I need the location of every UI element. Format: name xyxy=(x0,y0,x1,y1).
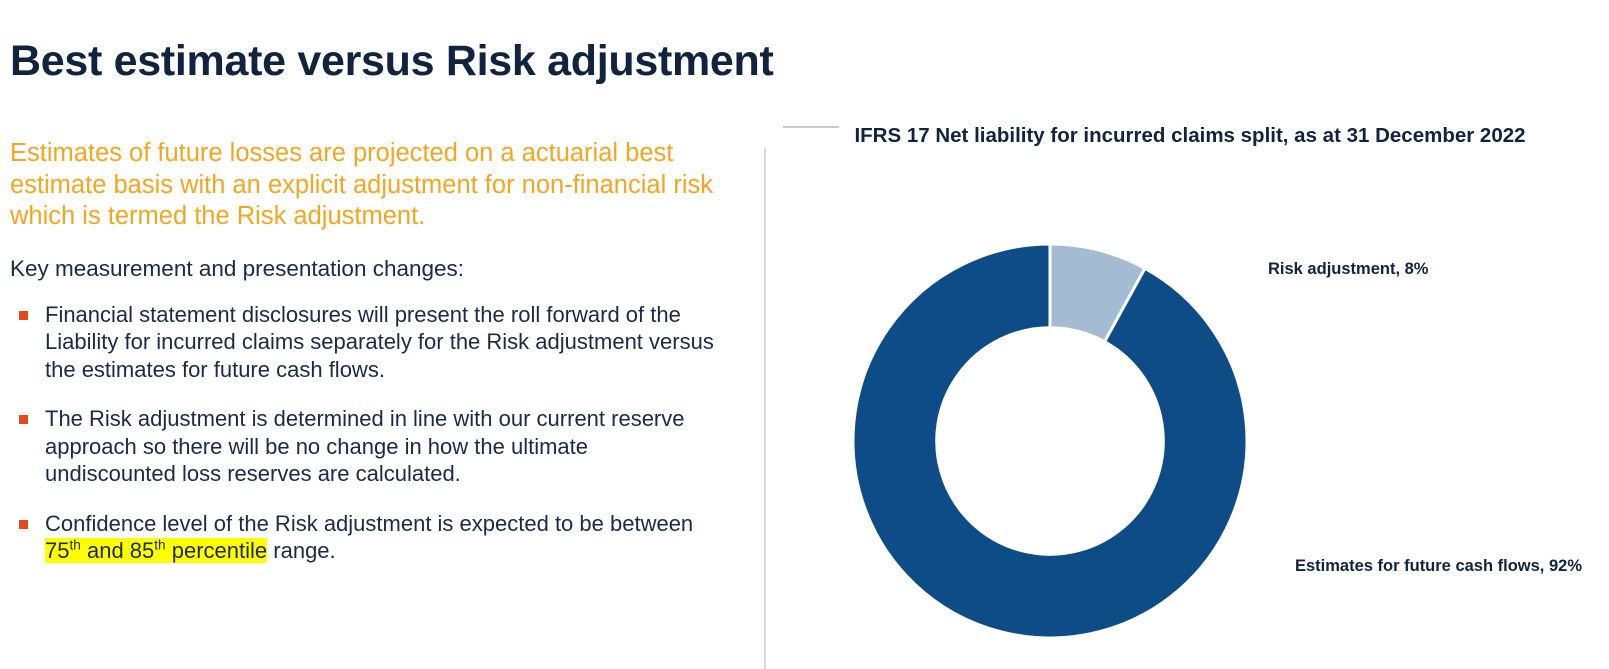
highlighted-percentile-range: 75th and 85th percentile xyxy=(45,538,267,563)
list-item: Confidence level of the Risk adjustment … xyxy=(10,510,722,565)
donut-chart-svg xyxy=(840,231,1260,651)
slice-label-future-cash-flows: Estimates for future cash flows, 92% xyxy=(1295,554,1595,578)
list-item-text: Financial statement disclosures will pre… xyxy=(45,302,714,382)
square-bullet-icon xyxy=(19,311,28,320)
donut-chart: Risk adjustment, 8% Estimates for future… xyxy=(770,112,1609,669)
page-title: Best estimate versus Risk adjustment xyxy=(10,37,1110,86)
sub-heading: Key measurement and presentation changes… xyxy=(10,255,722,283)
list-item-text: The Risk adjustment is determined in lin… xyxy=(45,406,685,486)
vertical-divider xyxy=(764,148,766,669)
left-content-column: Estimates of future losses are projected… xyxy=(10,138,722,565)
square-bullet-icon xyxy=(19,415,28,424)
ordinal-suffix: th xyxy=(154,538,165,553)
square-bullet-icon xyxy=(19,520,28,529)
list-item-text-suffix: range. xyxy=(267,538,336,563)
slice-label-risk-adjustment: Risk adjustment, 8% xyxy=(1268,257,1568,281)
percentile-lower-value: 75 xyxy=(45,538,69,563)
chart-panel: IFRS 17 Net liability for incurred claim… xyxy=(770,112,1609,669)
intro-paragraph: Estimates of future losses are projected… xyxy=(10,138,722,233)
slide-root: Best estimate versus Risk adjustment Est… xyxy=(0,0,1609,669)
donut-slice xyxy=(853,244,1247,638)
ordinal-suffix: th xyxy=(69,538,80,553)
percentile-word: percentile xyxy=(166,538,268,563)
percentile-conjunction: and 85 xyxy=(81,538,154,563)
list-item: The Risk adjustment is determined in lin… xyxy=(10,405,722,488)
list-item: Financial statement disclosures will pre… xyxy=(10,301,722,384)
bullet-list: Financial statement disclosures will pre… xyxy=(10,301,722,565)
list-item-text-prefix: Confidence level of the Risk adjustment … xyxy=(45,511,693,536)
